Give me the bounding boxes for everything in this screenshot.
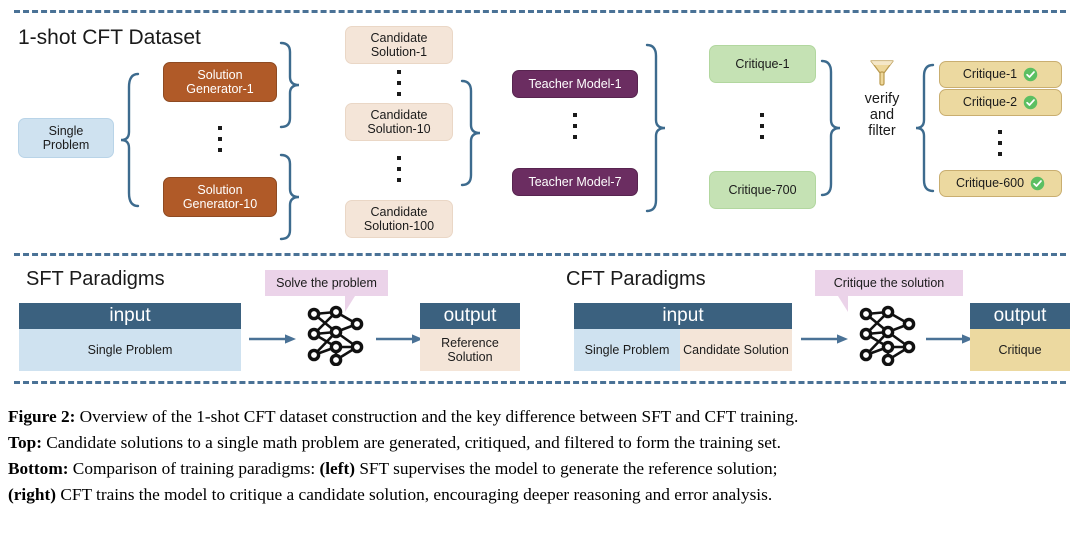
teacher-model-7-node: Teacher Model-7 bbox=[512, 168, 638, 196]
teacher-model-1-node: Teacher Model-1 bbox=[512, 70, 638, 98]
verified-check-icon bbox=[1023, 67, 1038, 82]
verified-check-icon bbox=[1030, 176, 1045, 191]
caption-bottom-label: Bottom: bbox=[8, 459, 68, 478]
sft-arrow-model-to-output bbox=[375, 332, 425, 346]
caption-line-2-text: Candidate solutions to a single math pro… bbox=[42, 433, 781, 452]
brace-generator1-to-candidates bbox=[279, 40, 301, 130]
divider-middle bbox=[14, 253, 1066, 256]
candidate-solution-100-line2: Solution-100 bbox=[364, 219, 434, 233]
filtered-critiques-ellipsis bbox=[998, 130, 1002, 156]
caption-right-label: (right) bbox=[8, 485, 56, 504]
sft-input-cell-single-problem: Single Problem bbox=[19, 329, 241, 371]
sft-input-body: Single Problem bbox=[19, 329, 241, 371]
cft-output-block: output Critique bbox=[970, 303, 1070, 371]
cft-output-line1: Critique bbox=[998, 343, 1041, 357]
figure-caption: Figure 2: Overview of the 1-shot CFT dat… bbox=[8, 404, 1072, 508]
candidate-solution-10-line2: Solution-10 bbox=[367, 122, 430, 136]
sft-output-cell-reference-solution: Reference Solution bbox=[420, 329, 520, 371]
solution-generator-10-node: Solution Generator-10 bbox=[163, 177, 277, 217]
single-problem-line2: Problem bbox=[43, 138, 90, 152]
cft-input-cell-1-text: Single Problem bbox=[585, 343, 670, 357]
caption-line-4: (right) CFT trains the model to critique… bbox=[8, 482, 1072, 508]
sft-input-cell-text: Single Problem bbox=[88, 343, 173, 357]
caption-left-label: (left) bbox=[320, 459, 356, 478]
cft-output-cell-critique: Critique bbox=[970, 329, 1070, 371]
caption-line-2: Top: Candidate solutions to a single mat… bbox=[8, 430, 1072, 456]
filtered-critique-1-node: Critique-1 bbox=[939, 61, 1062, 88]
sft-output-line1: Reference bbox=[441, 336, 499, 350]
cft-input-cell-single-problem: Single Problem bbox=[574, 329, 680, 371]
candidate-solution-1-line2: Solution-1 bbox=[371, 45, 428, 59]
funnel-icon bbox=[869, 58, 895, 88]
brace-critiques-to-filter bbox=[820, 58, 842, 198]
dataset-section-title: 1-shot CFT Dataset bbox=[18, 26, 201, 50]
filtered-critique-2-node: Critique-2 bbox=[939, 89, 1062, 116]
critique-1-label: Critique-1 bbox=[735, 57, 789, 71]
verify-and-filter-group: verify and filter bbox=[855, 58, 909, 140]
caption-line-1: Figure 2: Overview of the 1-shot CFT dat… bbox=[8, 404, 1072, 430]
cft-input-body: Single Problem Candidate Solution bbox=[574, 329, 792, 371]
sft-neural-network-icon bbox=[305, 302, 367, 366]
solution-generator-1-line2: Generator-1 bbox=[186, 82, 253, 96]
sft-section-title: SFT Paradigms bbox=[26, 268, 165, 291]
caption-top-label: Top: bbox=[8, 433, 42, 452]
critique-1-node: Critique-1 bbox=[709, 45, 816, 83]
caption-line-1-text: Overview of the 1-shot CFT dataset const… bbox=[75, 407, 798, 426]
single-problem-node: Single Problem bbox=[18, 118, 114, 158]
candidate-solution-1-node: Candidate Solution-1 bbox=[345, 26, 453, 64]
sft-output-header: output bbox=[420, 303, 520, 329]
cft-input-block: input Single Problem Candidate Solution bbox=[574, 303, 792, 371]
candidate-solution-1-line1: Candidate bbox=[371, 31, 428, 45]
cft-bubble-text: Critique the solution bbox=[834, 276, 944, 290]
cft-input-cell-2-line1: Candidate bbox=[683, 343, 740, 357]
verify-line2: and bbox=[870, 107, 894, 123]
cft-input-header: input bbox=[574, 303, 792, 329]
caption-figure-label: Figure 2: bbox=[8, 407, 75, 426]
sft-input-header: input bbox=[19, 303, 241, 329]
critique-700-node: Critique-700 bbox=[709, 171, 816, 209]
candidates-lower-ellipsis bbox=[397, 156, 401, 182]
generators-ellipsis bbox=[218, 126, 222, 152]
caption-line-4-text: CFT trains the model to critique a candi… bbox=[56, 485, 772, 504]
critiques-ellipsis bbox=[760, 113, 764, 139]
verified-check-icon bbox=[1023, 95, 1038, 110]
candidate-solution-10-line1: Candidate bbox=[367, 108, 430, 122]
cft-bubble-tail bbox=[838, 296, 848, 312]
solution-generator-10-line1: Solution bbox=[183, 183, 257, 197]
caption-line-3-text-a: Comparison of training paradigms: bbox=[68, 459, 319, 478]
cft-output-body: Critique bbox=[970, 329, 1070, 371]
single-problem-line1: Single bbox=[43, 124, 90, 138]
candidate-solution-100-line1: Candidate bbox=[364, 205, 434, 219]
cft-speech-bubble: Critique the solution bbox=[815, 270, 963, 296]
brace-filter-to-filtered bbox=[913, 62, 935, 194]
sft-arrow-input-to-model bbox=[248, 332, 298, 346]
critique-700-label: Critique-700 bbox=[728, 183, 796, 197]
solution-generator-1-line1: Solution bbox=[186, 68, 253, 82]
teacher-model-1-label: Teacher Model-1 bbox=[528, 77, 621, 91]
cft-section-title: CFT Paradigms bbox=[566, 268, 706, 291]
divider-top bbox=[14, 10, 1066, 13]
brace-teachers-to-critiques bbox=[645, 42, 667, 214]
filtered-critique-600-node: Critique-600 bbox=[939, 170, 1062, 197]
sft-input-block: input Single Problem bbox=[19, 303, 241, 371]
filtered-critique-2-label: Critique-2 bbox=[963, 95, 1017, 109]
sft-output-line2: Solution bbox=[447, 350, 492, 364]
sft-output-body: Reference Solution bbox=[420, 329, 520, 371]
caption-line-3-text-b: SFT supervises the model to generate the… bbox=[355, 459, 777, 478]
verify-and-filter-text: verify and filter bbox=[855, 91, 909, 140]
cft-arrow-model-to-output bbox=[925, 332, 975, 346]
verify-line1: verify bbox=[865, 91, 900, 107]
solution-generator-10-line2: Generator-10 bbox=[183, 197, 257, 211]
teacher-model-7-label: Teacher Model-7 bbox=[528, 175, 621, 189]
brace-problem-to-generators bbox=[118, 70, 140, 210]
caption-line-3: Bottom: Comparison of training paradigms… bbox=[8, 456, 1072, 482]
brace-generator10-to-candidates bbox=[279, 152, 301, 242]
solution-generator-1-node: Solution Generator-1 bbox=[163, 62, 277, 102]
cft-output-header: output bbox=[970, 303, 1070, 329]
candidate-solution-10-node: Candidate Solution-10 bbox=[345, 103, 453, 141]
cft-neural-network-icon bbox=[857, 302, 919, 366]
sft-output-block: output Reference Solution bbox=[420, 303, 520, 371]
teachers-ellipsis bbox=[573, 113, 577, 139]
cft-input-cell-2-line2: Solution bbox=[744, 343, 789, 357]
filtered-critique-600-label: Critique-600 bbox=[956, 176, 1024, 190]
brace-candidates-to-teachers bbox=[460, 78, 482, 188]
sft-bubble-text: Solve the problem bbox=[276, 276, 377, 290]
candidate-solution-100-node: Candidate Solution-100 bbox=[345, 200, 453, 238]
divider-bottom bbox=[14, 381, 1066, 384]
verify-line3: filter bbox=[868, 123, 895, 139]
filtered-critique-1-label: Critique-1 bbox=[963, 67, 1017, 81]
candidates-upper-ellipsis bbox=[397, 70, 401, 96]
figure-canvas: 1-shot CFT Dataset Single Problem Soluti… bbox=[0, 0, 1080, 535]
cft-input-cell-candidate-solution: Candidate Solution bbox=[680, 329, 792, 371]
cft-arrow-input-to-model bbox=[800, 332, 850, 346]
sft-speech-bubble: Solve the problem bbox=[265, 270, 388, 296]
